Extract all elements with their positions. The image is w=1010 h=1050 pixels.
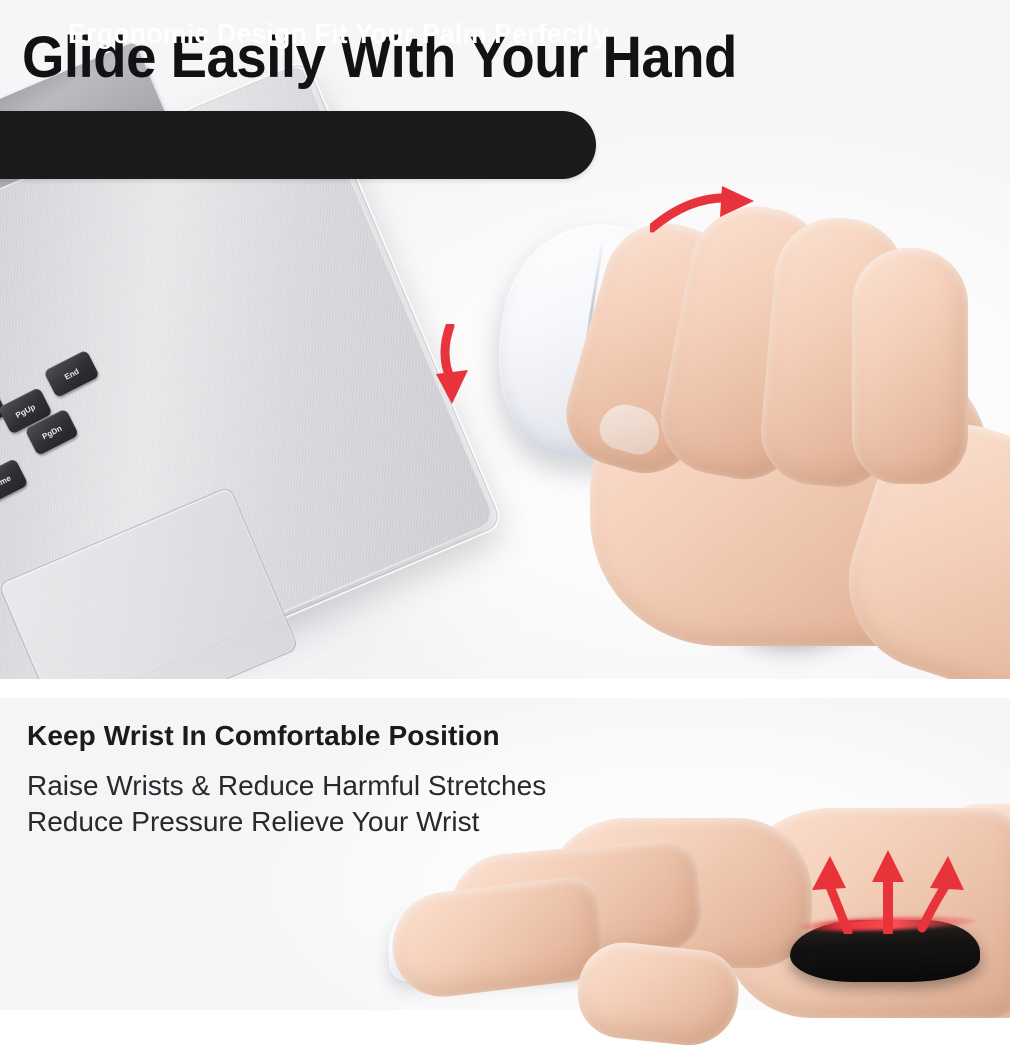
key-home: Home (0, 458, 28, 507)
panel-divider (0, 679, 1010, 698)
index-finger-side (386, 874, 607, 1003)
thumb-side (573, 938, 742, 1050)
key-end: End (43, 350, 99, 399)
top-panel: Backspace\]Enter'ShiftPgUpEnd?PgDnHomeCt… (0, 0, 1010, 679)
product-feature-banner: Backspace\]Enter'ShiftPgUpEnd?PgDnHomeCt… (0, 0, 1010, 1010)
tagline-badge (0, 111, 596, 179)
section-heading: Keep Wrist In Comfortable Position (27, 720, 500, 752)
tagline-badge-label: Ergonomic Design Fit Your Palm Perfectly (68, 0, 609, 68)
little-finger (852, 248, 968, 484)
hand-top (556, 196, 1010, 666)
